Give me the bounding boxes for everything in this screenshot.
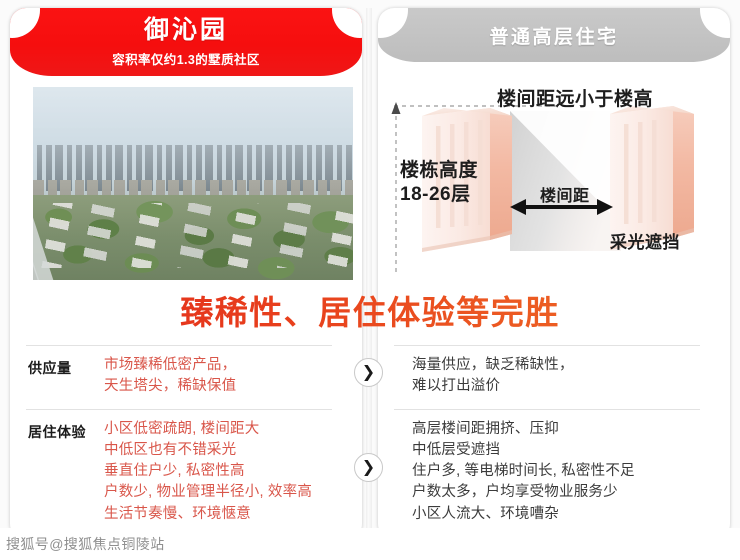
row-supply-positive-text: 市场臻稀低密产品， 天生塔尖，稀缺保值: [104, 355, 334, 397]
project-name-title: 御沁园: [144, 16, 228, 45]
banner-notch-right: [332, 8, 362, 38]
building-height-label: 楼栋高度 18-26层: [400, 159, 478, 207]
community-aerial-photo: [33, 87, 353, 280]
comparison-marker-icon-row1: ❯: [354, 358, 383, 387]
photo-haze-layer: [33, 87, 353, 280]
banner-notch-left: [10, 8, 40, 38]
row-living-positive-text: 小区低密疏朗, 楼间距大 中低区也有不错采光 垂直住户少, 私密性高 户数少, …: [104, 419, 340, 525]
light-blocking-label: 采光遮挡: [610, 228, 680, 253]
row-supply-negative-text: 海量供应，缺乏稀缺性， 难以打出溢价: [412, 355, 697, 397]
comparison-marker-icon-row2: ❯: [354, 453, 383, 482]
row-label-living-experience: 居住体验: [28, 422, 86, 442]
banner-notch-left: [378, 8, 408, 38]
row-separator-mid-right: [394, 409, 700, 410]
comparison-infographic: 御沁园 容积率仅约1.3的墅质社区 普通高层住宅: [0, 0, 740, 560]
page-headline: 臻稀性、居住体验等完胜: [0, 286, 740, 334]
project-subtitle: 容积率仅约1.3的墅质社区: [112, 49, 260, 68]
row-living-negative-text: 高层楼间距拥挤、压抑 中低层受遮挡 住户多, 等电梯时间长, 私密性不足 户数太…: [412, 419, 704, 525]
source-watermark: 搜狐号@搜狐焦点铜陵站: [6, 534, 165, 554]
building-spacing-diagram: 楼间距远小于楼高 楼栋高度 18-26层 楼间距 采光遮挡: [378, 64, 730, 289]
row-separator-top-left: [26, 345, 332, 346]
row-separator-top-right: [394, 345, 700, 346]
highrise-type-title: 普通高层住宅: [489, 22, 618, 49]
diagram-heading: 楼间距远小于楼高: [378, 84, 730, 111]
row-separator-mid-left: [26, 409, 332, 410]
banner-notch-right: [700, 8, 730, 38]
right-card-banner: 普通高层住宅: [378, 8, 730, 62]
row-label-supply: 供应量: [28, 358, 72, 378]
left-card-banner: 御沁园 容积率仅约1.3的墅质社区: [10, 8, 362, 76]
building-gap-label: 楼间距: [540, 182, 590, 206]
